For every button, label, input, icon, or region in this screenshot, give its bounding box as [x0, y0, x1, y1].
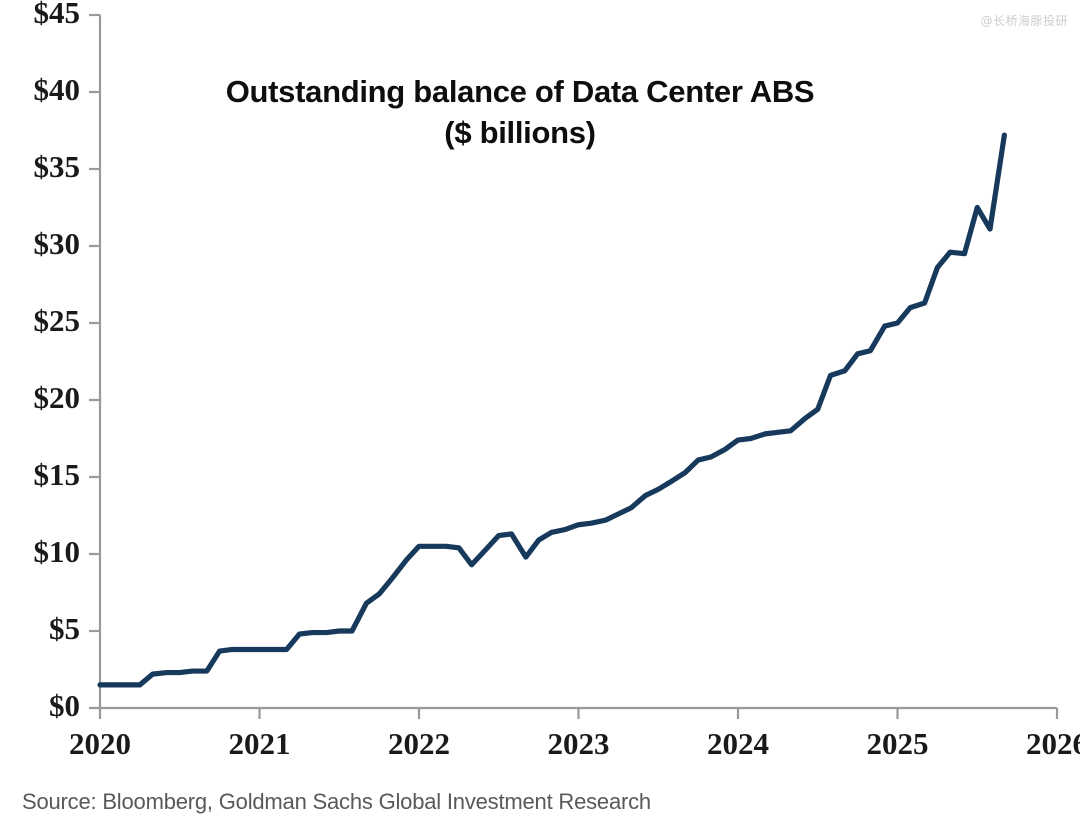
y-tick-label: $45	[34, 0, 81, 30]
y-tick-label: $0	[49, 688, 80, 723]
x-tick-label: 2024	[707, 726, 769, 761]
y-tick-label: $35	[34, 149, 81, 184]
x-tick-label: 2021	[229, 726, 291, 761]
source-note: Source: Bloomberg, Goldman Sachs Global …	[22, 789, 651, 815]
x-tick-label: 2023	[548, 726, 610, 761]
series-line-outstanding-balance	[100, 135, 1004, 685]
y-tick-label: $40	[34, 72, 81, 107]
y-tick-label: $20	[34, 380, 81, 415]
x-axis-ticks	[100, 708, 1057, 719]
y-tick-label: $25	[34, 303, 81, 338]
chart-title: Outstanding balance of Data Center ABS (…	[120, 72, 920, 154]
y-tick-label: $15	[34, 457, 81, 492]
y-tick-label: $30	[34, 226, 81, 261]
chart-title-line2: ($ billions)	[120, 113, 920, 154]
watermark-label: @长桥海豚投研	[980, 12, 1068, 29]
x-axis-labels: 2020202120222023202420252026	[69, 726, 1080, 761]
y-axis-labels: $0$5$10$15$20$25$30$35$40$45	[34, 0, 81, 723]
x-tick-label: 2022	[388, 726, 450, 761]
x-tick-label: 2026	[1026, 726, 1080, 761]
x-tick-label: 2025	[867, 726, 929, 761]
chart-figure: $0$5$10$15$20$25$30$35$40$45 20202021202…	[0, 0, 1080, 824]
y-axis-ticks	[89, 15, 100, 708]
y-tick-label: $5	[49, 611, 80, 646]
y-tick-label: $10	[34, 534, 81, 569]
x-tick-label: 2020	[69, 726, 131, 761]
chart-title-line1: Outstanding balance of Data Center ABS	[226, 74, 815, 109]
